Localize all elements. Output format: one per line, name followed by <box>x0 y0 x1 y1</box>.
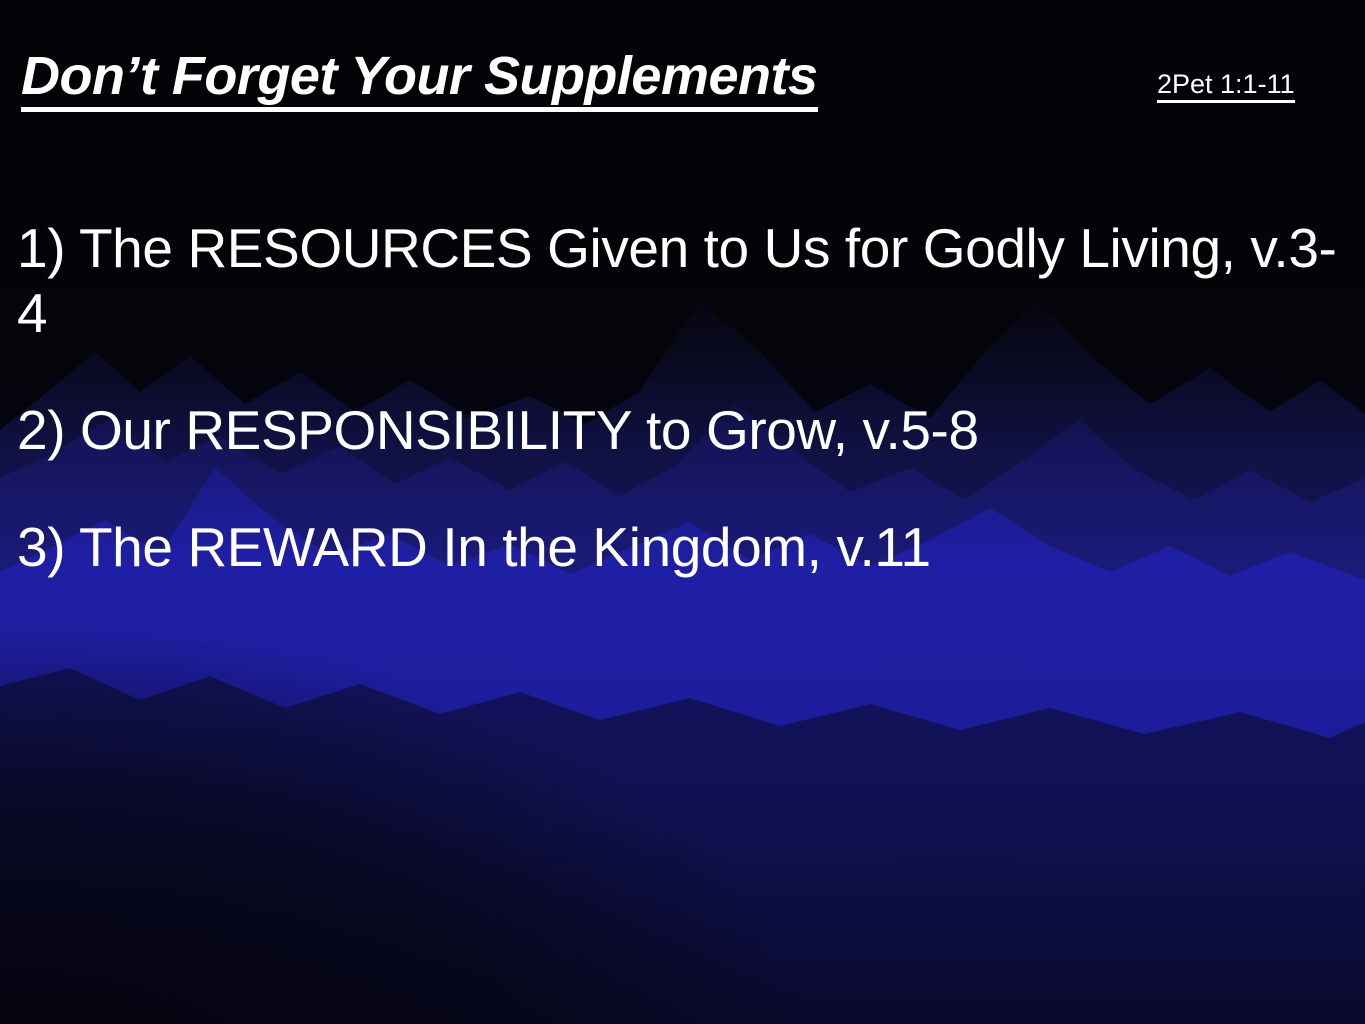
presentation-slide: Don’t Forget Your Supplements 2Pet 1:1-1… <box>0 0 1365 1024</box>
point-spacer <box>17 463 1362 515</box>
slide-header: Don’t Forget Your Supplements 2Pet 1:1-1… <box>0 46 1365 116</box>
bullet-point-3: 3) The REWARD In the Kingdom, v.11 <box>17 515 1362 580</box>
scripture-reference: 2Pet 1:1-11 <box>1157 68 1295 103</box>
bullet-point-2: 2) Our RESPONSIBILITY to Grow, v.5-8 <box>17 398 1362 463</box>
bullet-point-1: 1) The RESOURCES Given to Us for Godly L… <box>17 216 1362 346</box>
slide-body: 1) The RESOURCES Given to Us for Godly L… <box>17 216 1362 580</box>
slide-title: Don’t Forget Your Supplements <box>21 46 818 112</box>
point-spacer <box>17 346 1362 398</box>
